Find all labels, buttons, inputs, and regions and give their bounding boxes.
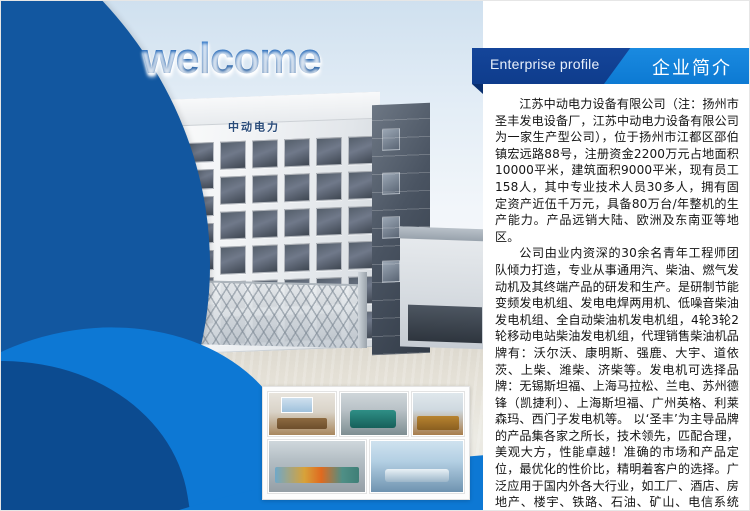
profile-paragraph-2: 公司由业内资深的30余名青年工程师团队倾力打造，专业从事通用汽、柴油、燃气发动机… xyxy=(495,245,739,511)
section-banner: Enterprise profile 企业简介 xyxy=(472,48,750,84)
curtain-wall-pane xyxy=(382,128,400,151)
company-profile-text: 江苏中动电力设备有限公司（注：扬州市圣丰发电设备厂，江苏中动电力设备有限公司为一… xyxy=(495,96,739,511)
section-title-chinese: 企业简介 xyxy=(652,54,732,80)
photo-gallery-strip xyxy=(262,386,470,500)
curtain-wall-pane xyxy=(382,216,400,239)
hero-image-panel: 江苏中动电力设备有限公司 Zhongdong Power Equipment C… xyxy=(0,0,483,511)
gate-post-right xyxy=(358,272,367,348)
curtain-wall-pane xyxy=(382,260,400,283)
building-rooftop-sign: 中动电力 xyxy=(228,118,280,134)
warehouse-generators-photo xyxy=(268,440,366,493)
profile-paragraph-1: 江苏中动电力设备有限公司（注：扬州市圣丰发电设备厂，江苏中动电力设备有限公司为一… xyxy=(495,96,739,245)
section-title-english: Enterprise profile xyxy=(490,56,599,72)
profile-text-panel: Enterprise profile 企业简介 江苏中动电力设备有限公司（注：扬… xyxy=(483,0,750,511)
generator-units-photo xyxy=(340,392,408,436)
warehouse-building xyxy=(400,226,483,349)
reception-desk-photo xyxy=(412,392,464,436)
gallery-row-top xyxy=(268,392,464,436)
gallery-row-bottom xyxy=(268,440,464,493)
office-meeting-photo xyxy=(268,392,336,436)
company-profile-page: 江苏中动电力设备有限公司 Zhongdong Power Equipment C… xyxy=(0,0,750,511)
welcome-headline: welcome xyxy=(142,34,321,84)
curtain-wall-pane xyxy=(382,172,400,195)
warehouse-door xyxy=(408,305,482,344)
conference-room-photo xyxy=(370,440,464,493)
